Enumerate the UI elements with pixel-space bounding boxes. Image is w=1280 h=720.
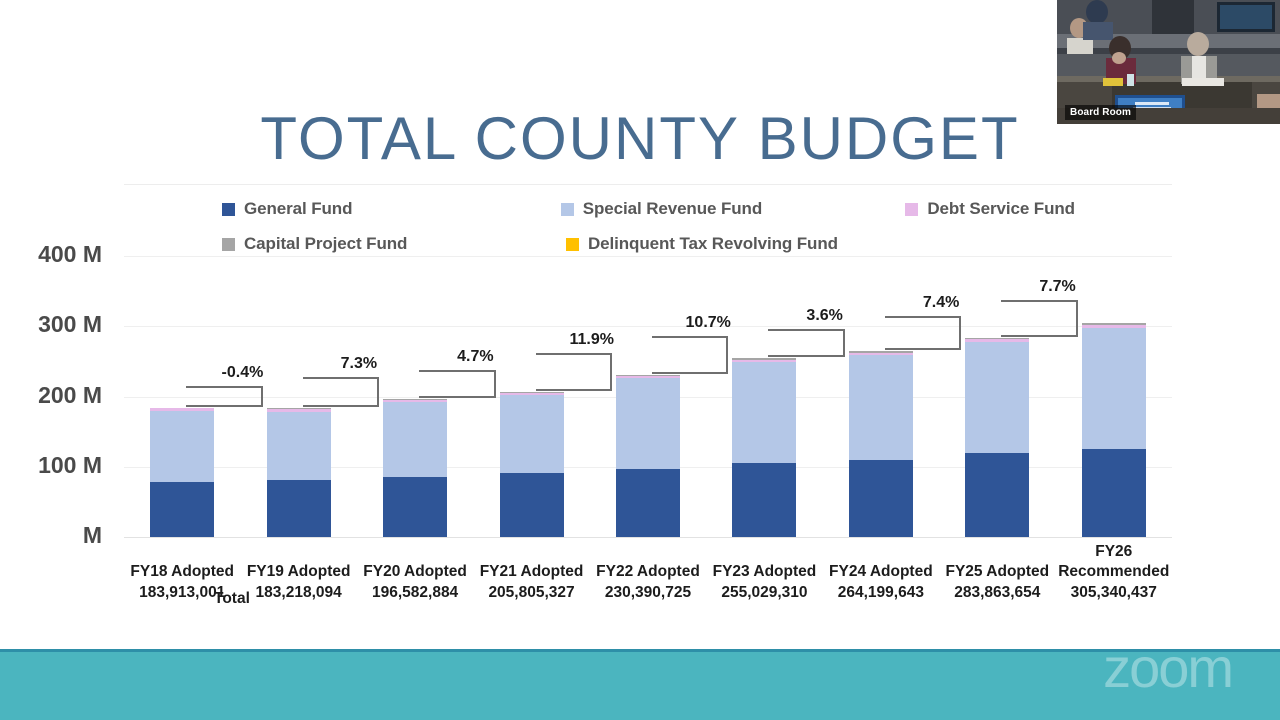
category-total-value: 264,199,643 [823, 583, 939, 603]
x-axis-category-column: FY25 Adopted283,863,654 [939, 562, 1055, 603]
bar-segment[interactable] [500, 473, 564, 537]
video-participant-tile[interactable]: Board Room [1057, 0, 1280, 124]
x-axis-category-column: FY26 Recommended305,340,437 [1056, 542, 1172, 603]
x-axis-category-column: FY20 Adopted196,582,884 [357, 562, 473, 603]
bar-segment[interactable] [383, 477, 447, 537]
category-total-value: 255,029,310 [706, 583, 822, 603]
percent-change-label: 7.4% [883, 294, 999, 312]
x-axis-category-label: FY18 Adopted [124, 562, 240, 582]
stacked-bar[interactable] [732, 358, 796, 537]
y-axis-tick-label: 200 M [2, 382, 102, 409]
bar-segment[interactable] [732, 362, 796, 463]
bar-segment[interactable] [1082, 328, 1146, 449]
percent-change-bracket [536, 353, 612, 391]
percent-change-label: 10.7% [650, 314, 766, 332]
bar-group[interactable] [500, 256, 564, 537]
percent-change-bracket [303, 377, 379, 407]
bar-segment[interactable] [965, 342, 1029, 454]
stacked-bar[interactable] [500, 392, 564, 537]
legend-divider [124, 184, 1172, 185]
percent-change-label: -0.4% [184, 364, 300, 382]
x-axis-labels-and-totals: Total FY18 Adopted183,913,001FY19 Adopte… [124, 562, 1172, 618]
bar-segment[interactable] [732, 463, 796, 537]
bar-segment[interactable] [965, 453, 1029, 537]
bar-segment[interactable] [150, 482, 214, 537]
legend-item-debt-service-fund: Debt Service Fund [905, 199, 1122, 219]
stacked-bar[interactable] [616, 375, 680, 537]
legend-label-general-fund: General Fund [244, 199, 352, 219]
y-axis-tick-label: 300 M [2, 311, 102, 338]
x-axis-category-column: FY23 Adopted255,029,310 [706, 562, 822, 603]
percent-change-bracket [186, 386, 262, 407]
legend-swatch-capital-project-fund [222, 238, 235, 251]
percent-change-bracket [1001, 300, 1077, 336]
legend-item-general-fund: General Fund [222, 199, 561, 219]
legend-label-debt-service-fund: Debt Service Fund [927, 199, 1075, 219]
bar-segment[interactable] [849, 355, 913, 460]
y-axis-tick-label: M [2, 522, 102, 549]
y-axis-tick-label: 400 M [2, 241, 102, 268]
bar-segment[interactable] [616, 469, 680, 537]
percent-change-label: 11.9% [534, 331, 650, 349]
legend-swatch-debt-service-fund [905, 203, 918, 216]
x-axis-category-column: FY21 Adopted205,805,327 [473, 562, 589, 603]
x-axis-category-column: FY22 Adopted230,390,725 [590, 562, 706, 603]
percent-change-bracket [652, 336, 728, 374]
x-axis-category-label: FY19 Adopted [240, 562, 356, 582]
legend-row: General Fund Special Revenue Fund Debt S… [222, 196, 1122, 222]
percent-change-bracket [885, 316, 961, 351]
category-total-value: 183,218,094 [240, 583, 356, 603]
bar-segment[interactable] [267, 480, 331, 537]
bar-segment[interactable] [150, 411, 214, 482]
legend-label-capital-project-fund: Capital Project Fund [244, 234, 407, 254]
legend-item-special-revenue-fund: Special Revenue Fund [561, 199, 906, 219]
category-total-value: 283,863,654 [939, 583, 1055, 603]
x-axis-category-label: FY21 Adopted [473, 562, 589, 582]
legend-label-delinquent-tax-revolving-fund: Delinquent Tax Revolving Fund [588, 234, 838, 254]
percent-change-label: 4.7% [417, 348, 533, 366]
legend-label-special-revenue-fund: Special Revenue Fund [583, 199, 762, 219]
presentation-slide: TOTAL COUNTY BUDGET General Fund Special… [0, 0, 1280, 720]
legend-swatch-general-fund [222, 203, 235, 216]
x-axis-category-label: FY23 Adopted [706, 562, 822, 582]
stacked-bar[interactable] [1082, 323, 1146, 537]
zoom-watermark: zoom [1103, 640, 1232, 696]
x-axis-category-column: FY19 Adopted183,218,094 [240, 562, 356, 603]
category-total-value: 230,390,725 [590, 583, 706, 603]
bar-group[interactable] [1082, 256, 1146, 537]
bar-chart-plot-area: M100 M200 M300 M400 M-0.4%7.3%4.7%11.9%1… [124, 256, 1172, 537]
percent-change-bracket [419, 370, 495, 397]
stacked-bar[interactable] [267, 408, 331, 537]
bar-segment[interactable] [849, 460, 913, 537]
x-axis-category-label: FY24 Adopted [823, 562, 939, 582]
bar-segment[interactable] [267, 412, 331, 480]
legend-row: Capital Project Fund Delinquent Tax Revo… [222, 231, 1122, 257]
x-axis-category-column: FY18 Adopted183,913,001 [124, 562, 240, 603]
category-total-value: 196,582,884 [357, 583, 473, 603]
stacked-bar[interactable] [965, 338, 1029, 537]
stacked-bar[interactable] [383, 399, 447, 537]
category-total-value: 183,913,001 [124, 583, 240, 603]
bar-group[interactable] [616, 256, 680, 537]
y-axis-tick-label: 100 M [2, 452, 102, 479]
x-axis-category-label: FY22 Adopted [590, 562, 706, 582]
bar-segment[interactable] [383, 402, 447, 476]
legend-swatch-special-revenue-fund [561, 203, 574, 216]
bar-segment[interactable] [500, 395, 564, 473]
category-total-value: 205,805,327 [473, 583, 589, 603]
stacked-bar[interactable] [849, 351, 913, 537]
gridline [124, 537, 1172, 538]
x-axis-category-label: FY20 Adopted [357, 562, 473, 582]
percent-change-label: 7.3% [301, 355, 417, 373]
bar-segment[interactable] [616, 378, 680, 468]
percent-change-label: 3.6% [766, 307, 882, 325]
legend-item-delinquent-tax-revolving-fund: Delinquent Tax Revolving Fund [566, 234, 916, 254]
x-axis-category-column: FY24 Adopted264,199,643 [823, 562, 939, 603]
percent-change-label: 7.7% [999, 278, 1115, 296]
category-total-value: 305,340,437 [1056, 583, 1172, 603]
zoom-bottom-bar [0, 649, 1280, 720]
bar-group[interactable] [732, 256, 796, 537]
bar-segment[interactable] [1082, 449, 1146, 537]
x-axis-category-label: FY26 Recommended [1056, 542, 1172, 582]
legend-swatch-delinquent-tax-revolving-fund [566, 238, 579, 251]
stacked-bar[interactable] [150, 408, 214, 537]
video-tile-name-label: Board Room [1065, 105, 1136, 120]
x-axis-category-label: FY25 Adopted [939, 562, 1055, 582]
percent-change-bracket [768, 329, 844, 356]
legend-item-capital-project-fund: Capital Project Fund [222, 234, 566, 254]
